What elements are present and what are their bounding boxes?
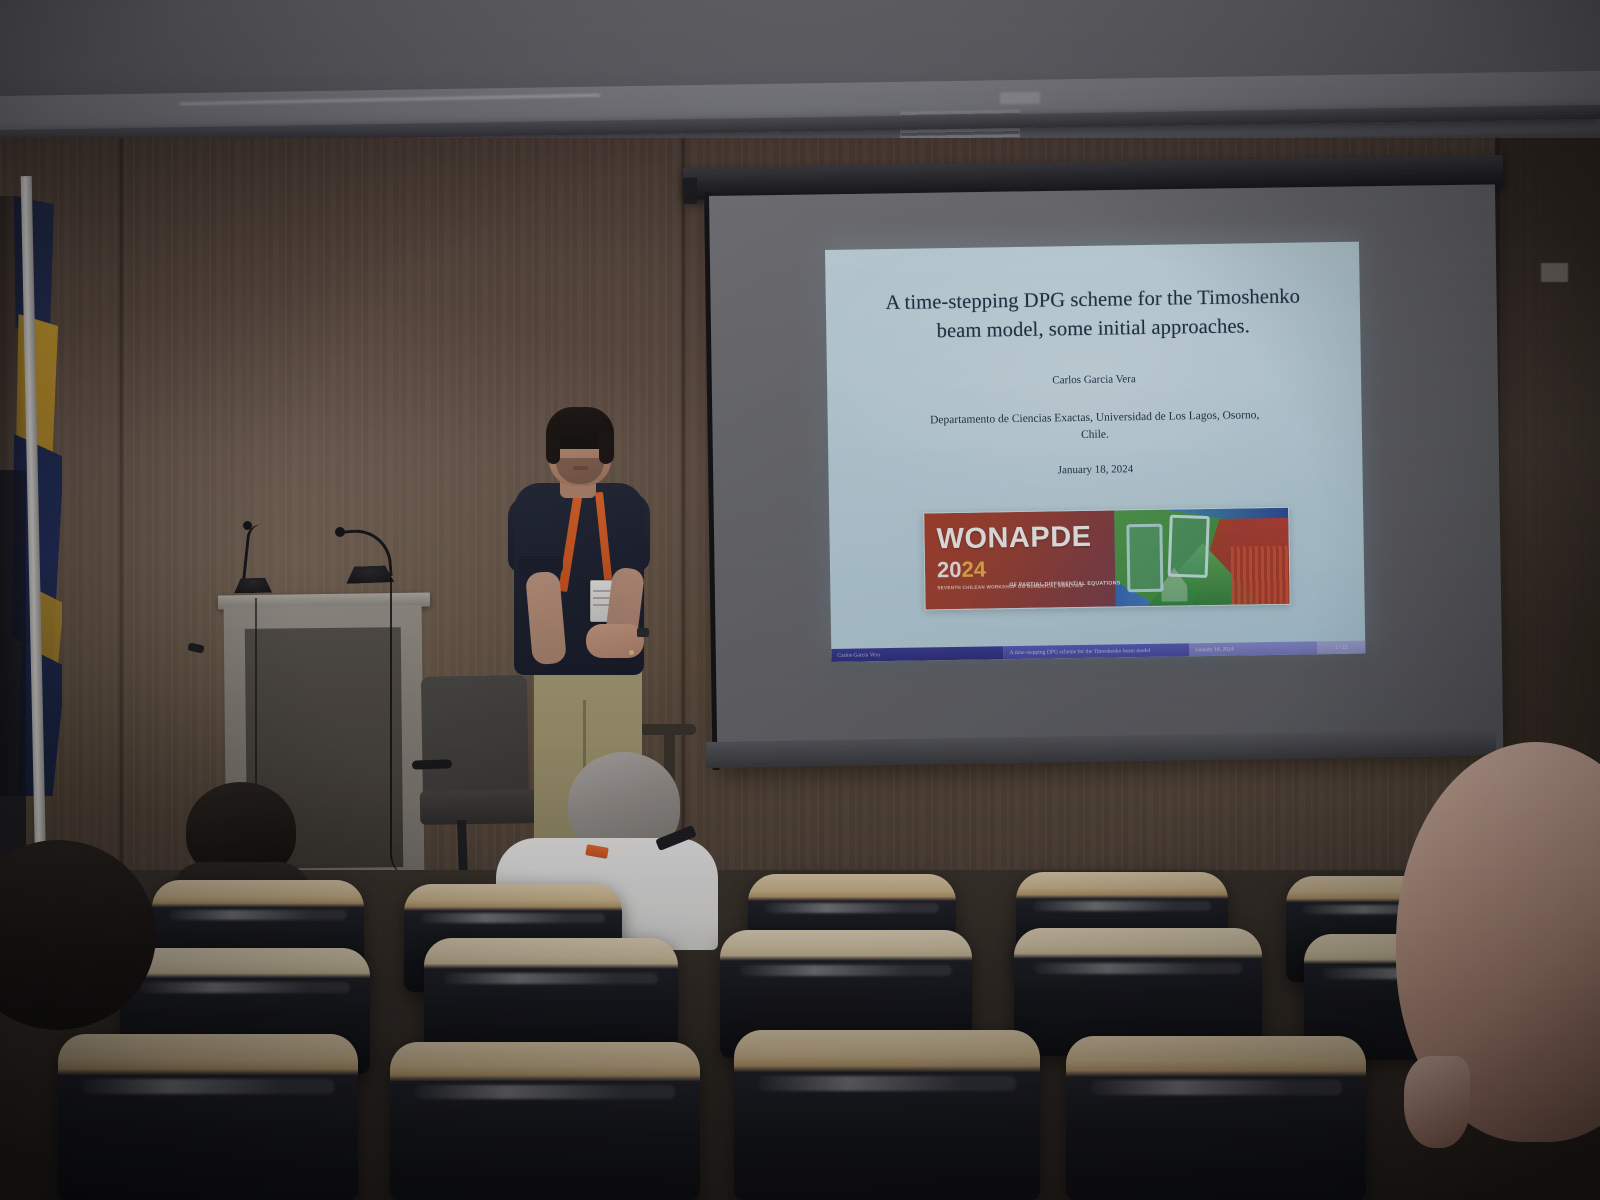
slide-date: January 18, 2024 (854, 460, 1336, 480)
presenter-hands (586, 624, 644, 658)
microphone-capsule-right (335, 527, 345, 537)
logo-banner-right (1114, 508, 1289, 607)
photo-scene: A time-stepping DPG scheme for the Timos… (0, 0, 1600, 1200)
wall-outlet-plate-icon (1541, 263, 1568, 282)
wall-seam (120, 138, 123, 898)
ceiling-plate (1000, 92, 1040, 105)
seat (734, 1030, 1040, 1200)
logo-building-frame-1 (1126, 524, 1163, 593)
seat (1066, 1036, 1366, 1200)
slide-footer-page: 1 / 22 (1317, 641, 1366, 655)
seat (58, 1034, 358, 1200)
attendee-ear-right-foreground (1404, 1056, 1470, 1148)
slide-author: Carlos Garcia Vera (853, 370, 1335, 390)
presenter-mouth (573, 466, 588, 470)
slide-affiliation: Departamento de Ciencias Exactas, Univer… (846, 406, 1344, 447)
logo-year-prefix: 20 (937, 557, 962, 582)
logo-stripe-block (1231, 546, 1290, 605)
presenter-ring (629, 650, 634, 655)
presenter-watch (637, 628, 649, 637)
projector-screen-housing-cap (683, 178, 697, 204)
presenter-hair-side-right (599, 430, 614, 464)
office-chair-post (457, 820, 468, 876)
logo-wordmark: WONAPDE (936, 521, 1091, 556)
logo-year-suffix: 24 (961, 557, 986, 582)
flag-shadow-side (0, 470, 26, 870)
office-chair-back (421, 675, 529, 805)
office-chair-seat (420, 789, 539, 825)
office-chair-armrest-left (412, 759, 452, 769)
slide-footer-date: January 18, 2024 (1189, 641, 1317, 656)
wonapde-logo: WONAPDE 2024 SEVENTH CHILEAN WORKSHOP ON… (923, 507, 1290, 611)
slide-title: A time-stepping DPG scheme for the Timos… (852, 282, 1335, 348)
microphone-capsule-left (243, 521, 252, 530)
presenter-hair-side-left (546, 432, 560, 464)
projected-slide: A time-stepping DPG scheme for the Timos… (825, 242, 1365, 662)
slide-footer-author: Carlos Garcia Vera (831, 646, 1003, 662)
wall-seam (682, 138, 685, 898)
seat (390, 1042, 700, 1200)
microphone-cable-right (390, 578, 414, 878)
logo-year: 2024 (937, 557, 986, 584)
